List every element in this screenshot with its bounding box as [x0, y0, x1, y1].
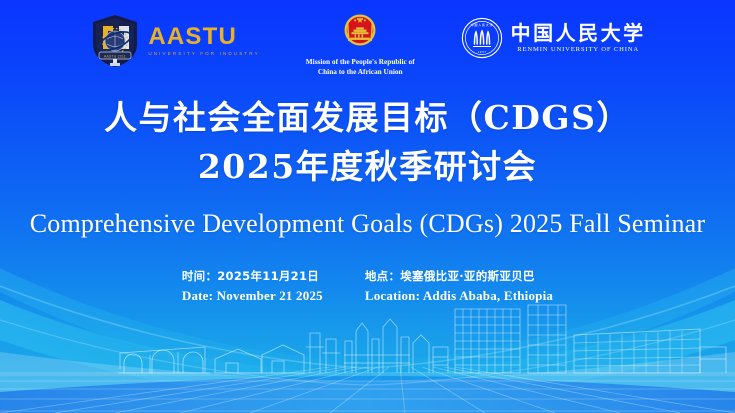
logo-aastu: AASTU 2011 AASTU UNIVERSITY FOR INDUSTRY	[89, 14, 259, 68]
event-location-en: Location: Addis Ababa, Ethiopia	[365, 287, 553, 306]
event-info-block: 时间：2025年11月21日 Date: November 21 2025 地点…	[0, 268, 735, 306]
event-date: 时间：2025年11月21日 Date: November 21 2025	[182, 268, 323, 306]
prc-mission-caption: Mission of the People's Republic of Chin…	[306, 57, 415, 77]
prc-mission-line1: Mission of the People's Republic of	[306, 57, 415, 67]
renmin-name-en: RENMIN UNIVERSITY OF CHINA	[517, 47, 639, 54]
prc-mission-line2: China to the African Union	[306, 67, 415, 77]
renmin-name-cn: 中国人民大学	[511, 23, 646, 43]
aastu-tagline: UNIVERSITY FOR INDUSTRY	[148, 52, 259, 57]
logo-row: AASTU 2011 AASTU UNIVERSITY FOR INDUSTRY	[0, 14, 735, 77]
event-location: 地点：埃塞俄比亚·亚的斯亚贝巴 Location: Addis Ababa, E…	[365, 268, 553, 306]
svg-text:1937: 1937	[477, 50, 486, 54]
logo-prc-mission: Mission of the People's Republic of Chin…	[306, 12, 415, 77]
page-title-cn-line1: 人与社会全面发展目标（CDGS）	[0, 96, 735, 141]
event-location-cn: 地点：埃塞俄比亚·亚的斯亚贝巴	[365, 268, 553, 285]
svg-text:中国人民大学: 中国人民大学	[470, 22, 493, 27]
china-national-emblem-icon	[338, 12, 382, 54]
logo-renmin: 中国人民大学 1937 中国人民大学 RENMIN UNIVERSITY OF …	[461, 14, 646, 59]
city-skyline-illustration	[0, 295, 735, 413]
event-date-cn: 时间：2025年11月21日	[182, 268, 323, 285]
page-title-en: Comprehensive Development Goals (CDGs) 2…	[0, 208, 735, 239]
svg-text:AASTU 2011: AASTU 2011	[104, 54, 126, 58]
seminar-poster: AASTU 2011 AASTU UNIVERSITY FOR INDUSTRY	[0, 0, 735, 413]
aastu-name: AASTU	[148, 25, 237, 49]
title-block: 人与社会全面发展目标（CDGS） 2025年度秋季研讨会 Comprehensi…	[0, 96, 735, 239]
event-date-en: Date: November 21 2025	[182, 287, 323, 306]
aastu-shield-emblem-icon: AASTU 2011	[89, 14, 141, 68]
renmin-university-seal-icon: 中国人民大学 1937	[461, 17, 503, 59]
page-title-cn-line2: 2025年度秋季研讨会	[0, 145, 735, 190]
